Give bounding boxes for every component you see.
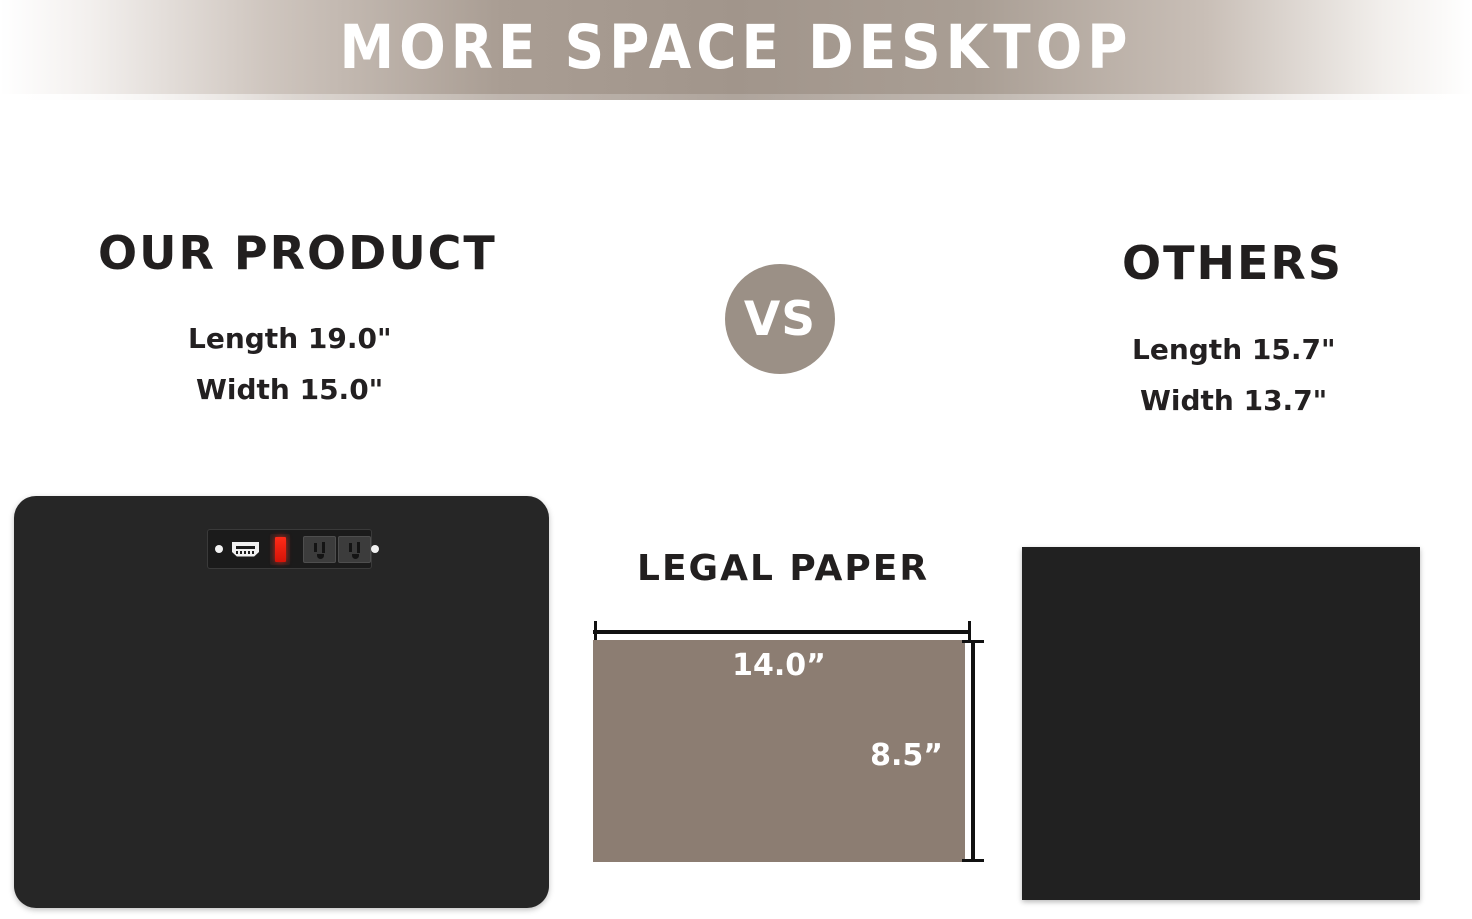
our-product-desk-mat: [14, 496, 549, 908]
screw-icon: [215, 545, 223, 553]
outlet-slot: [357, 542, 360, 553]
vs-badge: VS: [725, 264, 835, 374]
power-strip: [207, 529, 372, 569]
switch-indicator-icon: [275, 537, 286, 562]
banner-title: MORE SPACE DESKTOP: [0, 0, 1472, 100]
comparison-infographic: MORE SPACE DESKTOP OUR PRODUCT Length 19…: [0, 0, 1472, 919]
height-dimension-cap-top: [962, 640, 984, 643]
legal-paper-sheet: 14.0” 8.5”: [593, 640, 965, 862]
outlet-pair: [303, 536, 371, 563]
legal-paper-height-label: 8.5”: [870, 738, 943, 773]
others-heading: OTHERS: [1122, 236, 1343, 290]
others-desk-mat: [1022, 547, 1420, 900]
usb-port-icon: [232, 542, 259, 557]
others-width: Width 13.7": [1140, 384, 1327, 417]
legal-paper-heading: LEGAL PAPER: [637, 548, 929, 589]
height-dimension-line: [971, 640, 975, 862]
height-dimension-cap-bottom: [962, 859, 984, 862]
legal-paper-width-label: 14.0”: [593, 648, 965, 683]
outlet-ground-icon: [317, 554, 324, 559]
screw-icon: [371, 545, 379, 553]
ac-outlet-icon: [303, 536, 336, 563]
power-switch-icon: [270, 534, 290, 565]
our-product-width: Width 15.0": [196, 373, 383, 406]
header-banner: MORE SPACE DESKTOP: [0, 0, 1472, 100]
ac-outlet-icon: [338, 536, 371, 563]
vs-label: VS: [744, 292, 816, 347]
width-dimension-line: [593, 630, 971, 634]
outlet-slot: [322, 542, 325, 553]
outlet-ground-icon: [352, 554, 359, 559]
our-product-heading: OUR PRODUCT: [98, 226, 497, 280]
outlet-slot: [314, 543, 317, 552]
our-product-length: Length 19.0": [188, 322, 392, 355]
others-length: Length 15.7": [1132, 333, 1336, 366]
outlet-slot: [349, 543, 352, 552]
